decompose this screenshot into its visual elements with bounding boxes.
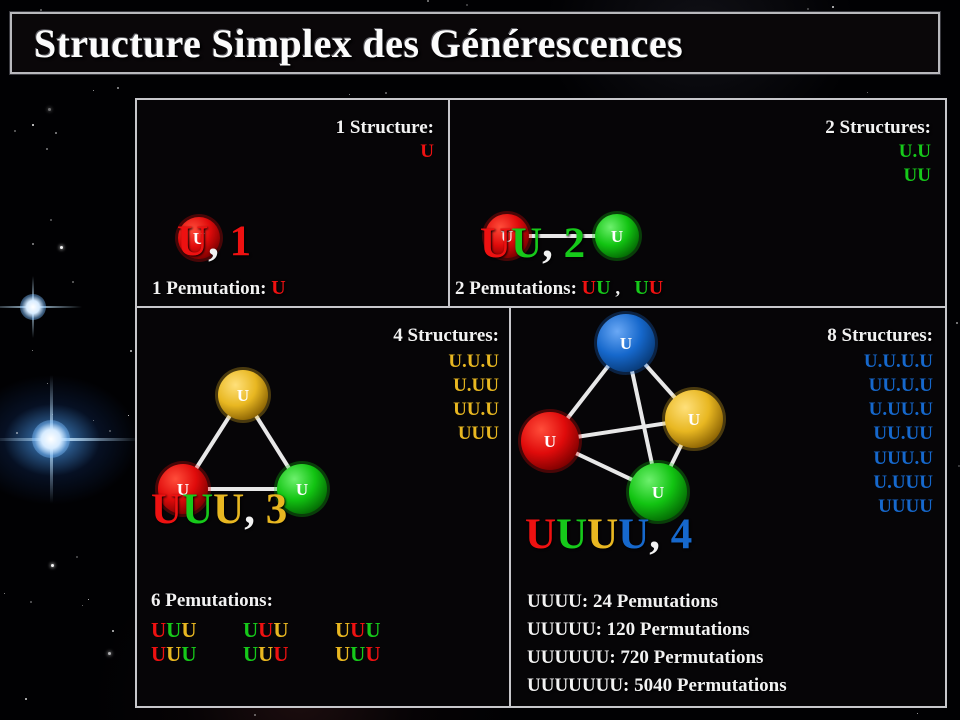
permutation-cell: UUU <box>335 642 427 666</box>
sequence-letter: U <box>181 642 196 666</box>
star <box>128 415 129 416</box>
slide-canvas: Structure Simplex des Générescences 1 St… <box>0 0 960 720</box>
permutation-count-row: UUUUU: 120 Permutations <box>527 616 787 644</box>
permutation-sequence: UUU <box>243 642 289 666</box>
sequence-letter: U <box>258 618 273 642</box>
structures-list: U.UUU <box>899 140 931 188</box>
structure-entry: U.UU.U <box>864 398 933 422</box>
star <box>385 92 387 94</box>
permutation-counts-table: UUUU: 24 PemutationsUUUUU: 120 Permutati… <box>527 588 787 700</box>
sequence-letter: U <box>350 642 365 666</box>
star <box>55 132 57 134</box>
sequence-letter: U <box>335 618 350 642</box>
panel-n4: 8 Structures: U.U.U.UUU.U.UU.UU.UUU.UUUU… <box>509 308 945 706</box>
sequence-letter: U <box>582 277 596 299</box>
slide-title-box: Structure Simplex des Générescences <box>10 12 940 74</box>
star <box>93 420 94 421</box>
star <box>14 130 16 132</box>
permutation-cell: UUU <box>151 618 243 642</box>
star <box>51 564 54 567</box>
star <box>32 243 34 245</box>
word-letter: U <box>511 220 542 267</box>
star <box>112 630 114 632</box>
star <box>48 108 51 111</box>
graph-node-label: U <box>652 483 664 502</box>
graph-node-label: U <box>544 432 556 451</box>
word-comma: , <box>244 486 266 533</box>
star <box>807 8 809 10</box>
panel-n3: 4 Structures: U.U.UU.UUUU.UUUU UUU UUU, … <box>137 308 509 706</box>
structures-list: U <box>420 140 434 164</box>
structure-entry: U <box>420 140 434 164</box>
sequence-letter: U <box>596 277 610 299</box>
star <box>4 593 5 594</box>
star <box>108 652 111 655</box>
word-comma: , <box>542 220 564 267</box>
grid-row-top: 1 Structure: U U U, 1 1 Pemutation: U 2 … <box>137 100 945 308</box>
permutation-count-row: UUUU: 24 Pemutations <box>527 588 787 616</box>
simplex-graph-n4: UUUU <box>516 313 733 531</box>
permutation-sequence: U <box>271 277 285 299</box>
structures-heading: 1 Structure: <box>336 117 434 139</box>
star <box>93 90 94 91</box>
panel-n1: 1 Structure: U U U, 1 1 Pemutation: U <box>137 100 448 306</box>
star-core-secondary <box>20 294 46 320</box>
star <box>32 124 34 126</box>
star <box>109 430 111 432</box>
word-letter: U <box>182 486 213 533</box>
structures-heading: 2 Structures: <box>825 117 931 139</box>
word-letter: U <box>480 220 511 267</box>
word-comma: , <box>208 218 230 265</box>
permutation-sequence: UUU <box>243 618 289 642</box>
word-count: 1 <box>230 218 252 265</box>
star <box>82 605 83 606</box>
sequence-letter: U <box>166 618 181 642</box>
star-core-bright <box>32 420 70 458</box>
star <box>130 350 132 352</box>
star <box>40 9 42 11</box>
star <box>427 0 429 2</box>
sequence-letter: U <box>271 277 285 299</box>
word-letter: U <box>177 218 208 265</box>
word-count: 4 <box>671 511 693 558</box>
sequence-letter: U <box>649 277 663 299</box>
structure-entry: UU <box>899 164 931 188</box>
panel-n2: 2 Structures: U.UUU UU UU, 2 2 Pemutatio… <box>448 100 945 306</box>
star <box>956 322 958 324</box>
permutation-cell: UUU <box>243 642 335 666</box>
structure-entry: U.UU <box>448 374 499 398</box>
sequence-letter: U <box>151 642 166 666</box>
star <box>832 6 834 8</box>
structure-entry: UU.UU <box>864 422 933 446</box>
star <box>349 94 350 95</box>
structure-entry: U.U <box>899 140 931 164</box>
star <box>46 148 48 150</box>
sequence-letter: U <box>181 618 196 642</box>
sequence-letter: U <box>151 618 166 642</box>
graph-node-label: U <box>620 334 632 353</box>
structures-heading: 4 Structures: <box>393 325 499 347</box>
permutations-line-n1: 1 Pemutation: U <box>152 277 286 300</box>
permutations-label-n3: 6 Pemutations: <box>151 590 273 612</box>
graph-node-label: U <box>688 410 700 429</box>
permutation-separator: , <box>611 278 635 299</box>
structure-entry: UU.U <box>448 398 499 422</box>
star <box>254 714 256 716</box>
star <box>958 465 960 467</box>
structures-list: U.U.UU.UUUU.UUUU <box>448 350 499 447</box>
word-letter: U <box>525 511 556 558</box>
structure-entry: UU.U.U <box>864 374 933 398</box>
word-label-n2: UU, 2 <box>480 222 585 265</box>
structure-entry: U.UUU <box>864 471 933 495</box>
star <box>32 350 33 351</box>
structure-entry: UUU.U <box>864 447 933 471</box>
page-title: Structure Simplex des Générescences <box>12 20 683 67</box>
permutation-count-row: UUUUUU: 720 Permutations <box>527 644 787 672</box>
simplex-graph-svg: UUUU <box>516 313 733 531</box>
star-glare-horizontal <box>0 438 140 441</box>
word-label-n4: UUUU, 4 <box>525 513 692 556</box>
sequence-letter: U <box>243 642 258 666</box>
word-letter: U <box>587 511 618 558</box>
star <box>30 601 32 603</box>
star <box>917 713 918 714</box>
sequence-letter: U <box>365 618 380 642</box>
grid-row-bottom: 4 Structures: U.U.UU.UUUU.UUUU UUU UUU, … <box>137 308 945 706</box>
sequence-letter: U <box>273 618 288 642</box>
permutation-sequence: UU <box>634 277 663 299</box>
word-count: 3 <box>266 486 288 533</box>
sequence-letter: U <box>166 642 181 666</box>
structures-list: U.U.U.UUU.U.UU.UU.UUU.UUUUU.UU.UUUUUUU <box>864 350 933 519</box>
word-letter: U <box>618 511 649 558</box>
graph-node-label: U <box>296 480 308 499</box>
star <box>47 383 48 384</box>
structure-entry: U.U.U <box>448 350 499 374</box>
permutation-cell: UUU <box>335 618 427 642</box>
permutations-grid-n3: UUUUUUUUUUUUUUUUUU <box>151 618 427 666</box>
structure-entry: UUU <box>448 422 499 446</box>
permutation-sequence: UU <box>582 277 611 299</box>
sequence-letter: U <box>634 277 648 299</box>
permutation-cell: UUU <box>243 618 335 642</box>
word-letter: U <box>556 511 587 558</box>
sequence-letter: U <box>258 642 273 666</box>
permutation-sequence: UUU <box>335 618 381 642</box>
star <box>72 281 74 283</box>
star <box>25 698 27 700</box>
structure-entry: UUUU <box>864 495 933 519</box>
permutations-label: 1 Pemutation: <box>152 278 271 299</box>
sequence-letter: U <box>243 618 258 642</box>
word-letter: U <box>213 486 244 533</box>
star <box>50 219 52 221</box>
word-letter: U <box>151 486 182 533</box>
sequence-letter: U <box>365 642 380 666</box>
star <box>88 599 89 600</box>
permutation-sequence: UUU <box>151 642 197 666</box>
sequence-letter: U <box>335 642 350 666</box>
permutation-cell: UUU <box>151 642 243 666</box>
graph-node-label: U <box>611 227 623 246</box>
permutation-sequence: UUU <box>151 618 197 642</box>
star <box>466 4 468 6</box>
simplex-grid: 1 Structure: U U U, 1 1 Pemutation: U 2 … <box>135 98 947 708</box>
sequence-letter: U <box>273 642 288 666</box>
graph-node-label: U <box>237 386 249 405</box>
star <box>60 246 63 249</box>
structure-entry: U.U.U.U <box>864 350 933 374</box>
star <box>117 87 119 89</box>
word-comma: , <box>649 511 671 558</box>
star <box>16 432 18 434</box>
permutation-count-row: UUUUUUU: 5040 Permutations <box>527 672 787 700</box>
word-count: 2 <box>564 220 586 267</box>
star <box>76 556 78 558</box>
structures-heading: 8 Structures: <box>827 325 933 347</box>
word-label-n1: U, 1 <box>177 220 251 263</box>
sequence-letter: U <box>350 618 365 642</box>
permutation-sequence: UUU <box>335 642 381 666</box>
star <box>867 92 868 93</box>
permutations-line-n2: 2 Pemutations: UU , UU <box>455 277 663 300</box>
permutations-label: 2 Pemutations: <box>455 278 582 299</box>
word-label-n3: UUU, 3 <box>151 488 287 531</box>
